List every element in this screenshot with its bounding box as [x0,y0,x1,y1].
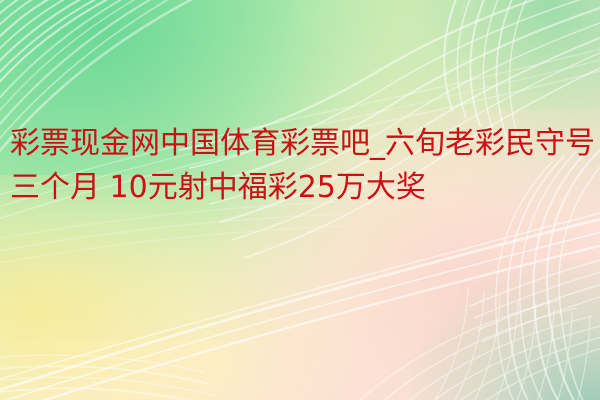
promo-banner: 彩票现金网中国体育彩票吧_六旬老彩民守号 三个月 10元射中福彩25万大奖 [0,0,600,400]
background-teal-bottom-right-corner [410,260,600,400]
headline-line-2: 三个月 10元射中福彩25万大奖 [10,166,590,210]
headline-text-block: 彩票现金网中国体育彩票吧_六旬老彩民守号 三个月 10元射中福彩25万大奖 [10,122,590,210]
headline-line-1: 彩票现金网中国体育彩票吧_六旬老彩民守号 [10,122,590,166]
